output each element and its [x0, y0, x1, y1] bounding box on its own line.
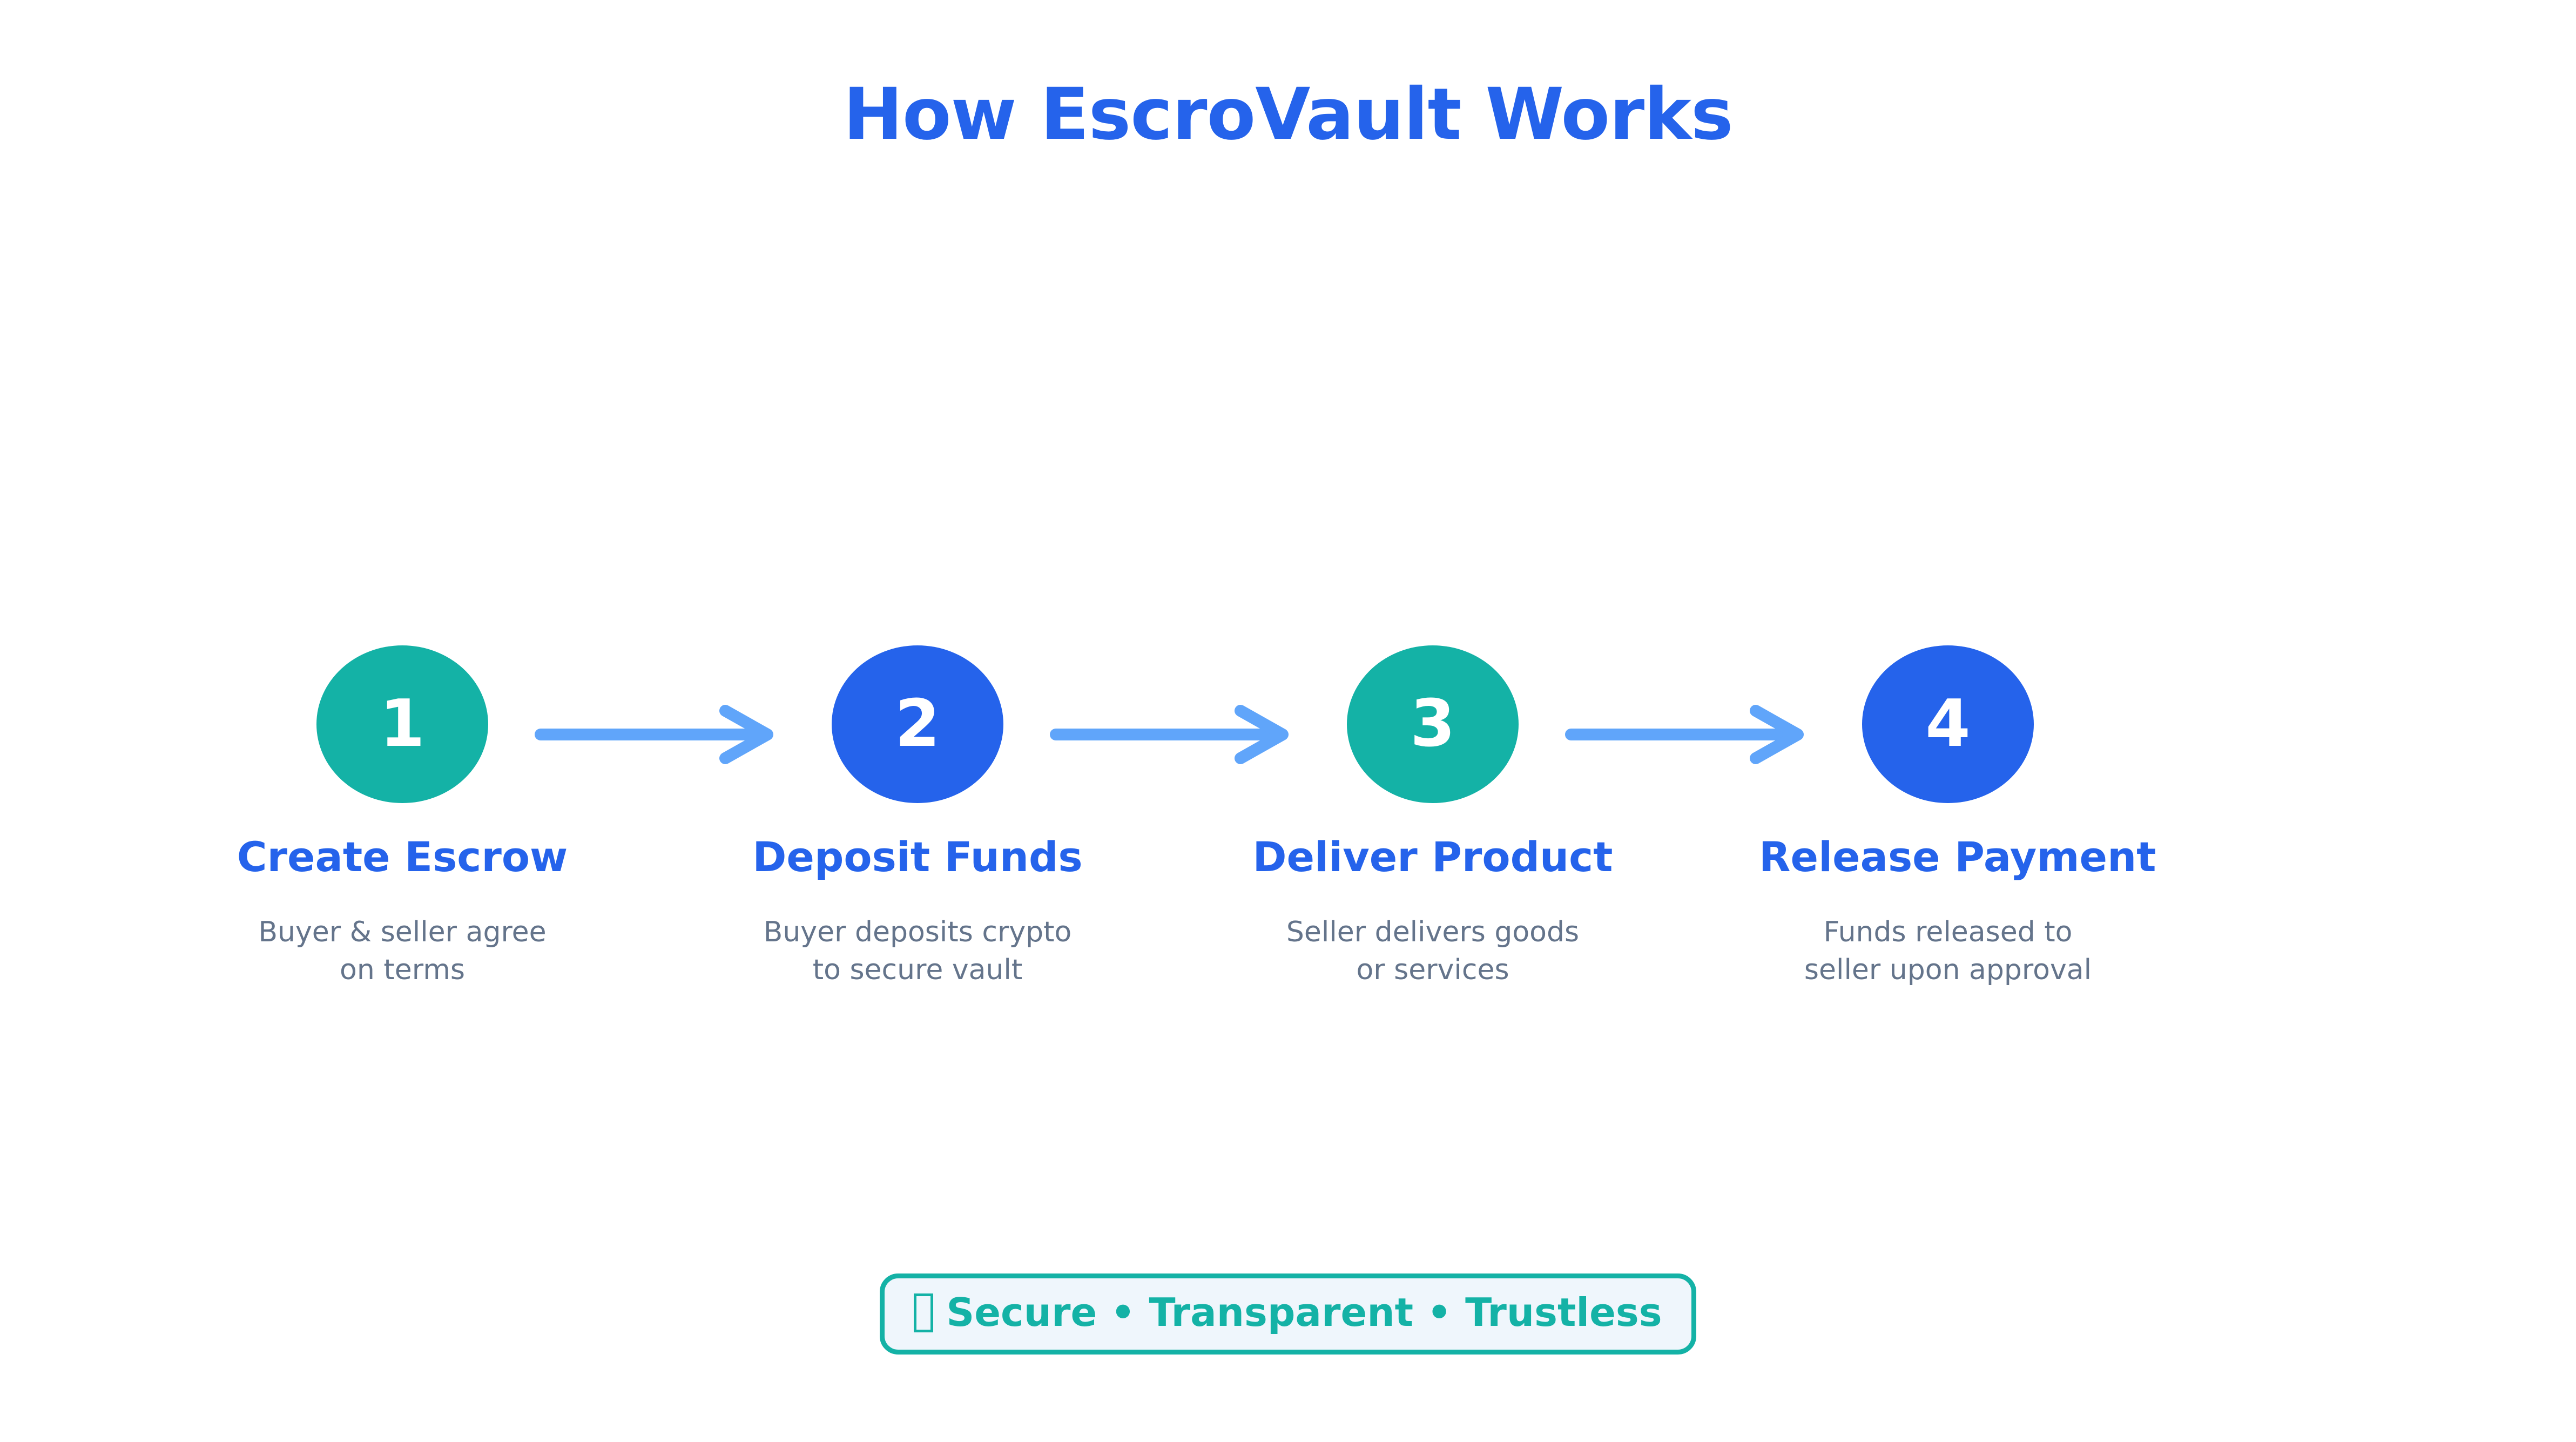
trust-badge: Secure • Transparent • Trustless: [880, 1273, 1696, 1355]
step-4-number: 4: [1925, 692, 1971, 757]
step-2-title: Deposit Funds: [729, 834, 1107, 880]
step-3-description: Seller delivers goods or services: [1244, 913, 1622, 989]
step-2-number-circle: 2: [832, 645, 1003, 803]
step-3-title: Deliver Product: [1244, 834, 1622, 880]
step-4-title: Release Payment: [1759, 834, 2137, 880]
step-2: 2 Deposit Funds Buyer deposits crypto to…: [729, 645, 1107, 989]
step-1-number: 1: [380, 692, 425, 757]
step-3-number-circle: 3: [1347, 645, 1519, 803]
page-title: How EscroVault Works: [0, 76, 2576, 154]
step-4-description: Funds released to seller upon approval: [1759, 913, 2137, 989]
step-1: 1 Create Escrow Buyer & seller agree on …: [213, 645, 591, 989]
step-1-number-circle: 1: [316, 645, 488, 803]
step-4-number-circle: 4: [1862, 645, 2034, 803]
step-1-title: Create Escrow: [213, 834, 591, 880]
steps-flow: 1 Create Escrow Buyer & seller agree on …: [145, 645, 2431, 1061]
step-3: 3 Deliver Product Seller delivers goods …: [1244, 645, 1622, 989]
lock-icon: [914, 1293, 933, 1332]
step-1-description: Buyer & seller agree on terms: [213, 913, 591, 989]
trust-badge-label: Secure • Transparent • Trustless: [946, 1292, 1662, 1333]
step-2-number: 2: [895, 692, 940, 757]
step-3-number: 3: [1410, 692, 1455, 757]
step-4: 4 Release Payment Funds released to sell…: [1759, 645, 2137, 989]
step-2-description: Buyer deposits crypto to secure vault: [729, 913, 1107, 989]
trust-badge-container: Secure • Transparent • Trustless: [0, 1273, 2576, 1355]
